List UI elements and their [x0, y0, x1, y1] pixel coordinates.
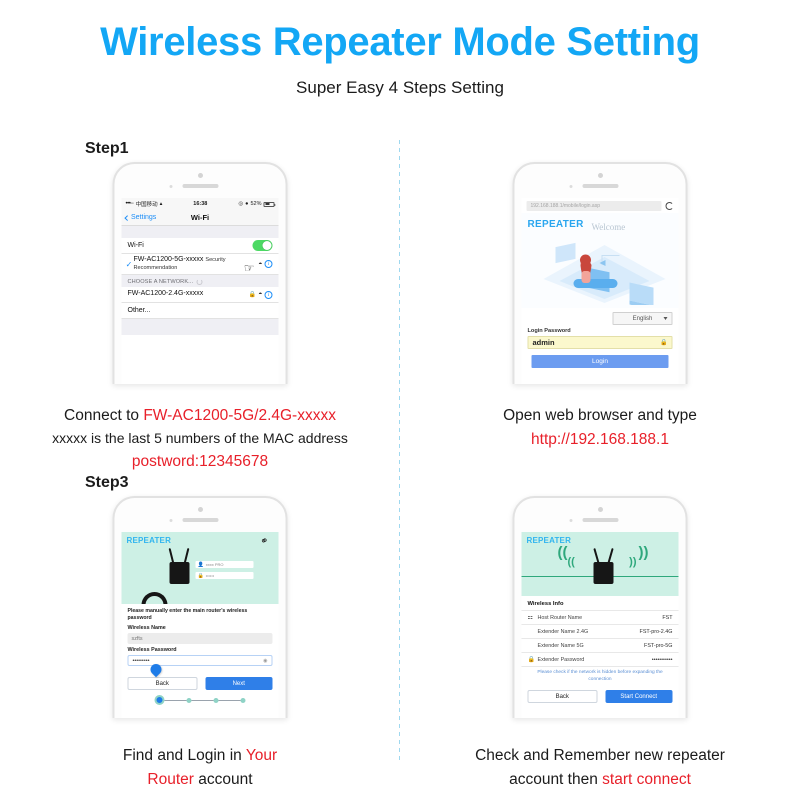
wifi-signal-icon: ◓	[258, 261, 262, 268]
row-label: Extender Password	[538, 657, 585, 663]
step-1-phone: •••◦◦ 中国移动 ▴ 16:38 ◎ ● 52%	[113, 162, 288, 384]
phone-volume-up-button	[113, 246, 114, 262]
table-row: ⚏Extender Name 2.4G FST-pro-2.4G	[522, 624, 679, 638]
step-3-screen: REPEATER ⚭ 👤 xxxx PRO 🔒 ••••	[122, 532, 279, 718]
step-3-phone: REPEATER ⚭ 👤 xxxx PRO 🔒 ••••	[113, 496, 288, 718]
phone-camera-icon	[598, 173, 603, 178]
phone-volume-up-button	[513, 246, 514, 262]
progress-line	[165, 700, 187, 701]
step-3-form: Please manually enter the main router's …	[122, 604, 279, 705]
row-value: FST-pro-5G	[644, 643, 672, 649]
isometric-illustration	[538, 235, 673, 305]
gear-icon	[142, 592, 168, 604]
step-3-header: REPEATER ⚭ 👤 xxxx PRO 🔒 ••••	[122, 532, 279, 604]
progress-dot[interactable]	[241, 698, 246, 703]
phone-speaker-icon	[182, 518, 218, 522]
ios-nav-bar: Settings Wi-Fi	[122, 210, 279, 226]
steps-grid: Step1 •••◦◦ 中国移动 ▴ 16:38	[0, 132, 800, 800]
phone-power-button	[687, 570, 688, 592]
login-password-value: admin	[533, 338, 555, 347]
login-password-field[interactable]: admin 🔒	[528, 336, 673, 349]
row-label: Extender Name 5G	[538, 643, 584, 649]
signal-wave-right-inner-icon: ))	[629, 556, 636, 568]
page-subtitle: Super Easy 4 Steps Setting	[0, 78, 800, 98]
phone-speaker-icon	[582, 184, 618, 188]
mini-username-value: xxxx PRO	[206, 562, 224, 567]
other-row[interactable]: Other...	[122, 303, 279, 319]
step-1-screen: •••◦◦ 中国移动 ▴ 16:38 ◎ ● 52%	[122, 198, 279, 384]
repeater-device-icon	[170, 562, 190, 584]
signal-wave-left-icon: ((	[558, 544, 568, 561]
reload-icon[interactable]	[666, 202, 674, 210]
wireless-name-label: Wireless Name	[128, 625, 273, 631]
step-4-caption-line1: Check and Remember new repeater	[400, 744, 800, 768]
step-1-caption: Connect to FW-AC1200-5G/2.4G-xxxxx xxxxx…	[0, 404, 400, 474]
step-progress-dots	[128, 695, 273, 705]
next-button[interactable]: Next	[205, 677, 273, 690]
phone-mute-button	[513, 560, 514, 570]
battery-icon	[264, 202, 275, 207]
wifi-signal-icon: ◓	[258, 291, 262, 298]
choose-network-header: CHOOSE A NETWORK...	[122, 275, 279, 287]
ios-spacer	[122, 226, 279, 238]
progress-line	[192, 700, 214, 701]
step-3-cell: Step3 REPEATER ⚭	[0, 466, 400, 800]
step-4-screen: REPEATER (( (( )) )) Wireless Info	[522, 532, 679, 718]
phone-sensor-icon	[570, 185, 573, 188]
step-3-caption-prefix: Find and Login in	[123, 747, 246, 764]
step-3-router-highlight: Router	[147, 771, 194, 788]
login-button[interactable]: Login	[532, 355, 669, 368]
lock-icon: 🔒	[528, 656, 535, 663]
progress-line	[219, 700, 241, 701]
step-3-caption: Find and Login in Your Router account	[0, 744, 400, 792]
lock-icon: 🔒	[660, 339, 667, 346]
step-2-phone: 192.168.188.1/mobile/login.asp REPEATER …	[513, 162, 688, 384]
step-2-screen: 192.168.188.1/mobile/login.asp REPEATER …	[522, 198, 679, 384]
phone-speaker-icon	[582, 518, 618, 522]
eye-icon[interactable]: ◉	[263, 658, 267, 664]
step-1-caption-prefix: Connect to	[64, 407, 143, 424]
step-3-label: Step3	[85, 474, 129, 492]
row-value: FST	[662, 615, 672, 621]
step-4-buttons: Back Start Connect	[522, 686, 679, 703]
info-icon[interactable]: i	[265, 260, 273, 268]
row-value: •••••••••••	[652, 657, 673, 663]
user-icon: 👤	[198, 562, 204, 568]
wireless-password-input[interactable]: ••••••••• ◉	[128, 655, 273, 666]
choose-network-label: CHOOSE A NETWORK...	[128, 279, 194, 285]
loading-spinner-icon	[196, 279, 202, 285]
bluetooth-icon: ●	[245, 201, 248, 207]
step-2-url-highlight: http://192.168.188.1	[400, 428, 800, 452]
mini-password-field[interactable]: 🔒 ••••••	[196, 572, 254, 579]
phone-sensor-icon	[570, 519, 573, 522]
carrier-label: 中国移动	[136, 200, 158, 208]
start-connect-button[interactable]: Start Connect	[605, 690, 673, 703]
wireless-name-value: szfts	[132, 636, 143, 642]
chevron-down-icon	[664, 317, 668, 320]
other-network-row[interactable]: FW-AC1200-2.4G-xxxxx 🔒 ◓ i	[122, 287, 279, 303]
ios-status-bar: •••◦◦ 中国移动 ▴ 16:38 ◎ ● 52%	[122, 198, 279, 210]
back-button[interactable]: Back	[128, 677, 198, 690]
wrench-icon[interactable]: ⚭	[258, 535, 270, 549]
wireless-password-label: Wireless Password	[128, 647, 273, 653]
phone-volume-down-button	[113, 268, 114, 284]
phone-volume-up-button	[513, 580, 514, 596]
row-label: Host Router Name	[538, 615, 583, 621]
language-value: English	[633, 316, 653, 322]
phone-camera-icon	[198, 173, 203, 178]
wireless-name-input[interactable]: szfts	[128, 633, 273, 644]
mini-username-field[interactable]: 👤 xxxx PRO	[196, 561, 254, 568]
language-select[interactable]: English	[613, 312, 673, 325]
table-row: ⚏Extender Name 5G FST-pro-5G	[522, 638, 679, 652]
phone-camera-icon	[598, 507, 603, 512]
browser-bar: 192.168.188.1/mobile/login.asp	[522, 198, 679, 213]
other-label: Other...	[128, 307, 151, 314]
progress-dot-active[interactable]	[155, 695, 165, 705]
screen-title: Wi-Fi	[122, 213, 279, 222]
step-3-your-highlight: Your	[246, 747, 277, 764]
step-1-ssid-highlight: FW-AC1200-5G/2.4G-xxxxx	[143, 407, 336, 424]
step-4-caption-prefix: account then	[509, 771, 602, 788]
wifi-toggle-row[interactable]: Wi-Fi	[122, 238, 279, 254]
signal-dots-icon: •••◦◦	[126, 201, 134, 207]
connected-network-name: FW-AC1200-5G-xxxxx	[134, 256, 204, 263]
step-1-label: Step1	[85, 140, 129, 158]
other-network-name: FW-AC1200-2.4G-xxxxx	[128, 290, 204, 297]
lock-icon: 🔒	[198, 573, 204, 579]
phone-speaker-icon	[182, 184, 218, 188]
alarm-icon: ◎	[238, 201, 243, 207]
page-title: Wireless Repeater Mode Setting	[0, 0, 800, 64]
phone-camera-icon	[198, 507, 203, 512]
step-1-cell: Step1 •••◦◦ 中国移动 ▴ 16:38	[0, 132, 400, 466]
phone-power-button	[687, 236, 688, 258]
phone-mute-button	[113, 560, 114, 570]
phone-volume-down-button	[513, 602, 514, 618]
info-icon[interactable]: i	[265, 291, 273, 299]
phone-volume-down-button	[113, 602, 114, 618]
step-4-start-connect-highlight: start connect	[602, 771, 691, 788]
clock-label: 16:38	[162, 201, 238, 207]
login-hero: REPEATER Welcome	[522, 213, 679, 308]
step-2-cell: Step2 192.168.188.1/mobile/login.asp	[400, 132, 800, 466]
signal-wave-right-icon: ))	[639, 544, 649, 561]
wifi-toggle-switch[interactable]	[253, 240, 273, 251]
router-icon: ⚏	[528, 614, 535, 621]
step-2-caption-line1: Open web browser and type	[400, 404, 800, 428]
phone-sensor-icon	[170, 519, 173, 522]
step-3-caption-suffix: account	[194, 771, 253, 788]
back-button[interactable]: Back	[528, 690, 598, 703]
step-2-caption: Open web browser and type http://192.168…	[400, 404, 800, 452]
welcome-label: Welcome	[592, 222, 626, 232]
login-password-label: Login Password	[522, 325, 679, 336]
wireless-info-title: Wireless Info	[522, 596, 679, 610]
language-row: English	[522, 308, 679, 325]
repeater-brand-label: REPEATER	[528, 219, 584, 230]
step-4-caption: Check and Remember new repeater account …	[400, 744, 800, 792]
phone-sensor-icon	[170, 185, 173, 188]
phone-power-button	[287, 570, 288, 592]
wifi-row-label: Wi-Fi	[128, 242, 144, 249]
step-1-caption-line2: xxxxx is the last 5 numbers of the MAC a…	[0, 428, 400, 450]
mini-password-value: ••••••	[206, 573, 214, 578]
address-bar[interactable]: 192.168.188.1/mobile/login.asp	[527, 201, 662, 211]
table-row: 🔒Extender Password •••••••••••	[522, 652, 679, 666]
phone-power-button	[287, 236, 288, 258]
connected-network-row[interactable]: ✓ FW-AC1200-5G-xxxxx Security Recommenda…	[122, 254, 279, 275]
phone-volume-up-button	[113, 580, 114, 596]
phone-mute-button	[113, 226, 114, 236]
wireless-password-value: •••••••••	[133, 658, 150, 664]
ios-bottom-spacer	[122, 319, 279, 335]
step-4-phone: REPEATER (( (( )) )) Wireless Info	[513, 496, 688, 718]
repeater-device-icon	[594, 562, 614, 584]
manual-entry-hint: Please manually enter the main router's …	[128, 608, 273, 622]
step-4-cell: Step4 REPEATER (( (( ))	[400, 466, 800, 800]
phone-mute-button	[513, 226, 514, 236]
table-row: ⚏Host Router Name FST	[522, 610, 679, 624]
lock-icon: 🔒	[249, 291, 256, 298]
phone-volume-down-button	[513, 268, 514, 284]
row-value: FST-pro-2.4G	[640, 629, 673, 635]
repeater-brand-label: REPEATER	[127, 536, 172, 545]
poster-root: Wireless Repeater Mode Setting Super Eas…	[0, 0, 800, 800]
checkmark-icon: ✓	[125, 260, 134, 269]
hidden-network-note: Please check if the network is hidden be…	[522, 666, 679, 686]
signal-wave-left-inner-icon: ((	[568, 556, 575, 568]
battery-percent-label: 52%	[250, 201, 261, 207]
step-3-buttons: Back Next	[128, 673, 273, 690]
step-4-header: REPEATER (( (( )) ))	[522, 532, 679, 596]
row-label: Extender Name 2.4G	[538, 629, 589, 635]
